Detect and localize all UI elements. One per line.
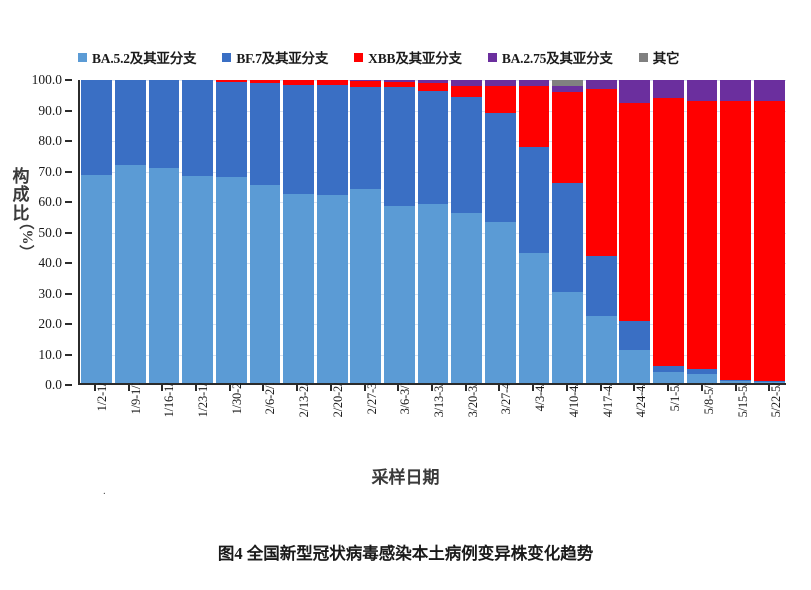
y-tick-label: 20.0 [38, 316, 62, 332]
legend-label-ba275: BA.2.75及其亚分支 [502, 47, 613, 67]
bar-segment [115, 80, 146, 165]
bar-segment [283, 194, 314, 383]
bar-1-30-2-5[interactable] [216, 80, 247, 383]
x-tick: 3/6-3/12 [383, 385, 414, 465]
bar-segment [754, 80, 785, 101]
figure-caption: 图4 全国新型冠状病毒感染本土病例变异株变化趋势 [0, 540, 811, 564]
bar-segment [451, 97, 482, 214]
x-tick: 4/24-4/30 [619, 385, 650, 465]
bar-1-23-1-29[interactable] [182, 80, 213, 383]
bar-segment [687, 374, 718, 383]
bar-segment [451, 213, 482, 383]
bar-segment [586, 256, 617, 317]
bar-segment [384, 87, 415, 206]
legend-item-bf7[interactable]: BF.7及其亚分支 [222, 47, 328, 67]
x-axis-ticks: 1/2-1/81/9-1/151/16-1/221/23-1/291/30-2/… [78, 385, 786, 465]
y-axis-ticks: 0.010.020.030.040.050.060.070.080.090.01… [0, 80, 72, 385]
y-tick-label: 30.0 [38, 286, 62, 302]
bar-5-8-5-14[interactable] [687, 80, 718, 383]
stray-dot-mark: . [103, 485, 106, 497]
x-tick: 2/27-3/5 [349, 385, 380, 465]
x-tick: 1/16-1/22 [147, 385, 178, 465]
y-tick-label: 60.0 [38, 194, 62, 210]
y-tick-mark [65, 354, 72, 356]
x-axis-title: 采样日期 [0, 463, 811, 488]
x-tick: 2/13-2/19 [282, 385, 313, 465]
y-tick-mark [65, 110, 72, 112]
y-tick-label: 10.0 [38, 347, 62, 363]
bar-segment [250, 185, 281, 383]
bar-segment [485, 86, 516, 113]
y-tick-mark [65, 323, 72, 325]
bar-4-10-4-16[interactable] [552, 80, 583, 383]
bar-segment [720, 381, 751, 383]
bar-segment [216, 82, 247, 177]
bar-segment [81, 80, 112, 175]
bar-segment [115, 165, 146, 383]
bar-segment [619, 80, 650, 103]
bar-segment [754, 101, 785, 380]
bar-segment [418, 83, 449, 91]
bar-segment [720, 80, 751, 101]
bar-segment [653, 372, 684, 383]
legend-item-xbb[interactable]: XBB及其亚分支 [354, 47, 462, 67]
bar-segment [552, 183, 583, 292]
bar-4-3-4-9[interactable] [519, 80, 550, 383]
bar-segment [485, 113, 516, 222]
bar-5-15-5-21[interactable] [720, 80, 751, 383]
bar-segment [619, 350, 650, 383]
x-tick: 1/9-1/15 [113, 385, 144, 465]
bar-segment [687, 80, 718, 101]
bar-segment [283, 85, 314, 194]
y-tick-mark [65, 293, 72, 295]
x-tick: 3/27-4/2 [484, 385, 515, 465]
bar-3-27-4-2[interactable] [485, 80, 516, 383]
y-tick-label: 80.0 [38, 133, 62, 149]
bar-segment [619, 321, 650, 350]
legend-item-other[interactable]: 其它 [639, 47, 680, 67]
bar-segment [586, 89, 617, 256]
legend-swatch-ba275 [488, 53, 497, 62]
y-tick-mark [65, 201, 72, 203]
bar-segment [552, 292, 583, 383]
x-tick: 5/22-5/28 [754, 385, 785, 465]
y-tick-mark [65, 232, 72, 234]
bar-segment [216, 177, 247, 383]
y-tick-label: 40.0 [38, 255, 62, 271]
bar-segment [317, 195, 348, 383]
y-tick-mark [65, 262, 72, 264]
chart-legend: BA.5.2及其亚分支BF.7及其亚分支XBB及其亚分支BA.2.75及其亚分支… [78, 46, 793, 68]
bar-3-13-3-19[interactable] [418, 80, 449, 383]
bar-1-9-1-15[interactable] [115, 80, 146, 383]
x-tick: 3/13-3/19 [417, 385, 448, 465]
bar-5-22-5-28[interactable] [754, 80, 785, 383]
y-tick-label: 90.0 [38, 103, 62, 119]
x-tick: 1/23-1/29 [181, 385, 212, 465]
bar-segment [182, 80, 213, 176]
legend-item-ba275[interactable]: BA.2.75及其亚分支 [488, 47, 613, 67]
x-tick: 2/20-2/26 [315, 385, 346, 465]
legend-label-ba52: BA.5.2及其亚分支 [92, 47, 196, 67]
bar-3-20-3-26[interactable] [451, 80, 482, 383]
x-tick: 5/15-5/21 [720, 385, 751, 465]
y-tick-label: 100.0 [32, 72, 62, 88]
legend-swatch-other [639, 53, 648, 62]
legend-label-other: 其它 [653, 47, 680, 67]
x-tick: 2/6-2/12 [248, 385, 279, 465]
y-tick-mark [65, 384, 72, 386]
x-tick: 4/3-4/9 [518, 385, 549, 465]
x-tick: 4/17-4/23 [585, 385, 616, 465]
y-tick-mark [65, 171, 72, 173]
bar-segment [250, 83, 281, 185]
bar-segment [653, 98, 684, 366]
y-tick-mark [65, 140, 72, 142]
bar-segment [519, 86, 550, 147]
bar-segment [182, 176, 213, 383]
bar-2-27-3-5[interactable] [350, 80, 381, 383]
bar-segment [418, 204, 449, 383]
bar-1-2-1-8[interactable] [81, 80, 112, 383]
chart-plot-area [78, 80, 786, 385]
bar-segment [653, 80, 684, 98]
bar-segment [81, 175, 112, 383]
bar-segment [485, 222, 516, 383]
x-tick: 4/10-4/16 [551, 385, 582, 465]
bar-segment [687, 101, 718, 369]
bar-segment [586, 80, 617, 89]
legend-item-ba52[interactable]: BA.5.2及其亚分支 [78, 47, 196, 67]
bar-segment [350, 87, 381, 189]
bar-3-6-3-12[interactable] [384, 80, 415, 383]
bar-segment [317, 85, 348, 195]
legend-swatch-bf7 [222, 53, 231, 62]
legend-swatch-xbb [354, 53, 363, 62]
bar-segment [384, 206, 415, 383]
bar-2-13-2-19[interactable] [283, 80, 314, 383]
x-tick: 5/8-5/14 [686, 385, 717, 465]
bar-segment [149, 168, 180, 383]
bar-segment [586, 316, 617, 383]
bar-segment [754, 382, 785, 384]
legend-label-bf7: BF.7及其亚分支 [236, 47, 328, 67]
x-tick: 5/1-5/7 [653, 385, 684, 465]
legend-label-xbb: XBB及其亚分支 [368, 47, 462, 67]
bar-4-17-4-23[interactable] [586, 80, 617, 383]
bar-2-20-2-26[interactable] [317, 80, 348, 383]
x-tick: 3/20-3/26 [450, 385, 481, 465]
y-tick-label: 50.0 [38, 225, 62, 241]
y-tick-mark [65, 79, 72, 81]
bar-segment [418, 91, 449, 205]
bar-4-24-4-30[interactable] [619, 80, 650, 383]
x-tick: 1/30-2/5 [214, 385, 245, 465]
stacked-bar-plot [78, 80, 786, 385]
bar-5-1-5-7[interactable] [653, 80, 684, 383]
bar-segment [350, 189, 381, 383]
bar-segment [519, 147, 550, 253]
bar-segment [552, 92, 583, 183]
y-tick-label: 0.0 [45, 377, 62, 393]
y-tick-label: 70.0 [38, 164, 62, 180]
bar-segment [519, 253, 550, 383]
bar-segment [619, 103, 650, 321]
bar-1-16-1-22[interactable] [149, 80, 180, 383]
bar-segment [149, 80, 180, 168]
x-tick: 1/2-1/8 [79, 385, 110, 465]
bar-segment [451, 86, 482, 97]
bar-2-6-2-12[interactable] [250, 80, 281, 383]
bar-segment [720, 101, 751, 380]
legend-swatch-ba52 [78, 53, 87, 62]
